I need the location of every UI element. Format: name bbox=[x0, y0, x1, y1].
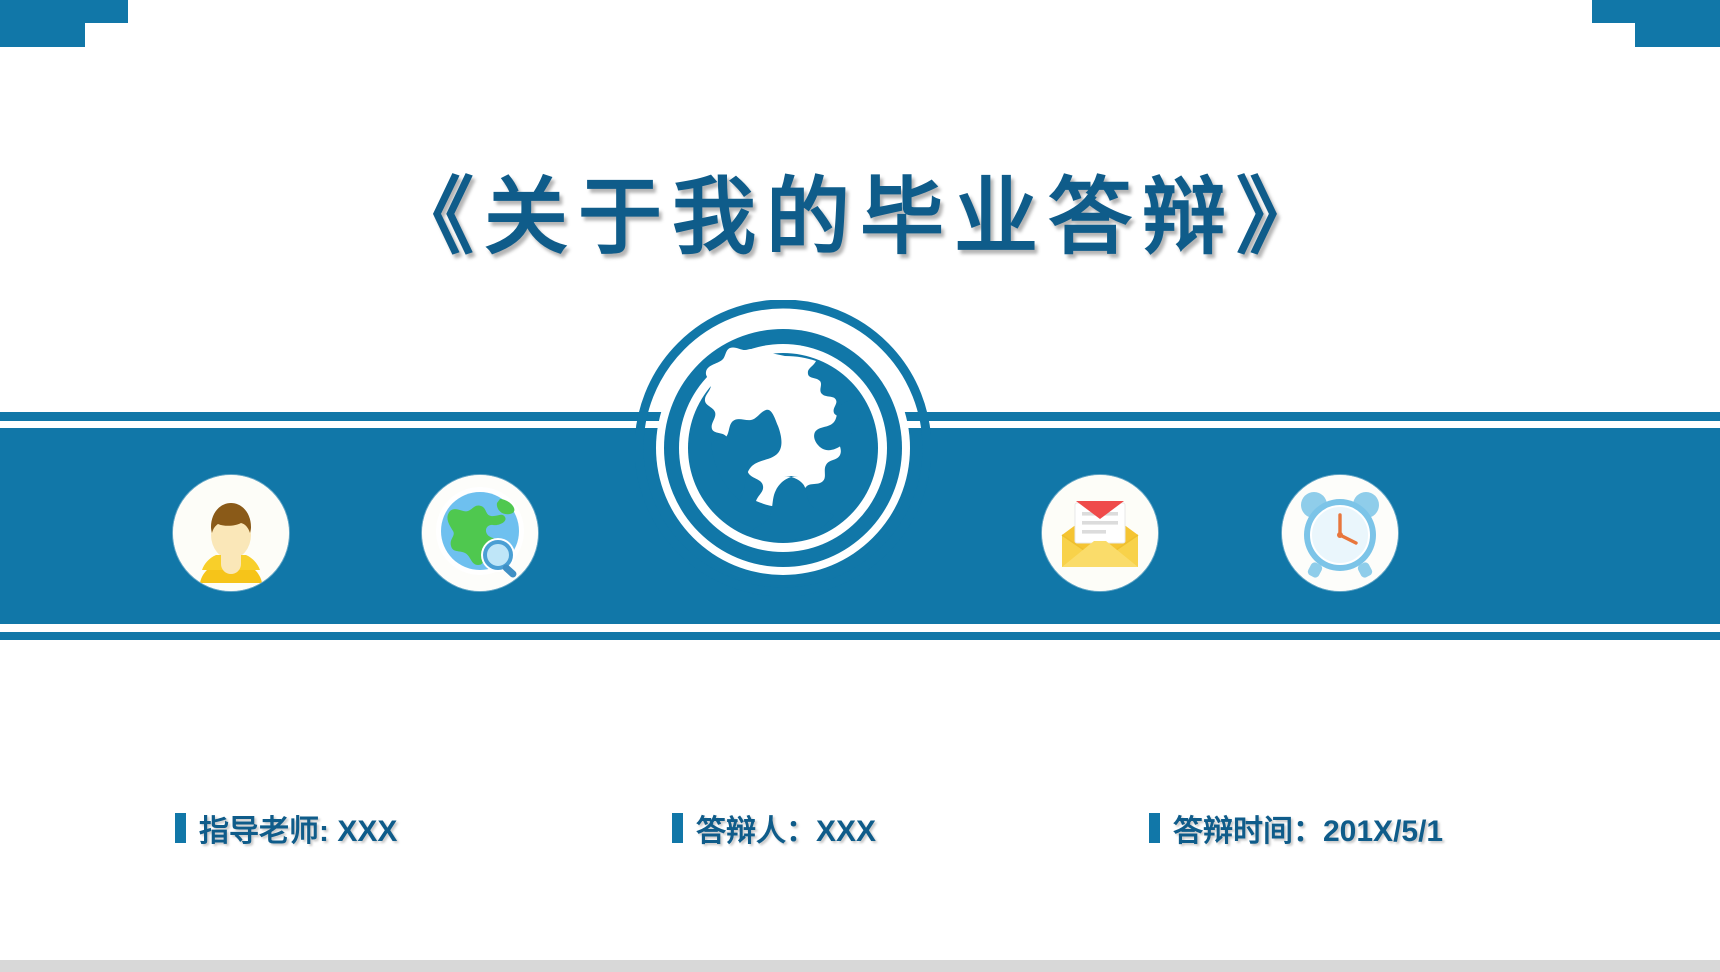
corner-bar-lower bbox=[1635, 23, 1720, 47]
footer-item-presenter: 答辩人：XXX bbox=[672, 806, 876, 850]
earth-search-icon bbox=[422, 475, 538, 591]
footer-item-label: 答辩时间：201X/5/1 bbox=[1173, 806, 1443, 850]
page-bottom-strip bbox=[0, 960, 1720, 972]
bullet-bar-icon bbox=[175, 813, 186, 843]
slide-title: 《关于我的毕业答辩》 bbox=[0, 150, 1720, 271]
bullet-bar-icon bbox=[672, 813, 683, 843]
corner-bar-upper bbox=[0, 0, 128, 23]
globe-emblem-icon bbox=[635, 300, 931, 596]
footer-meta: 指导老师: XXX 答辩人：XXX 答辩时间：201X/5/1 bbox=[0, 796, 1720, 866]
footer-item-label: 指导老师: XXX bbox=[199, 806, 397, 850]
bullet-bar-icon bbox=[1149, 813, 1160, 843]
open-envelope-icon bbox=[1042, 475, 1158, 591]
presentation-slide: 《关于我的毕业答辩》 bbox=[0, 0, 1720, 972]
footer-item-advisor: 指导老师: XXX bbox=[175, 806, 397, 850]
corner-bar-lower bbox=[0, 23, 85, 47]
user-avatar-icon bbox=[173, 475, 289, 591]
band-rule-bottom bbox=[0, 632, 1720, 640]
corner-bar-upper bbox=[1592, 0, 1720, 23]
footer-item-label: 答辩人：XXX bbox=[696, 806, 876, 850]
footer-item-date: 答辩时间：201X/5/1 bbox=[1149, 806, 1443, 850]
alarm-clock-icon bbox=[1282, 475, 1398, 591]
